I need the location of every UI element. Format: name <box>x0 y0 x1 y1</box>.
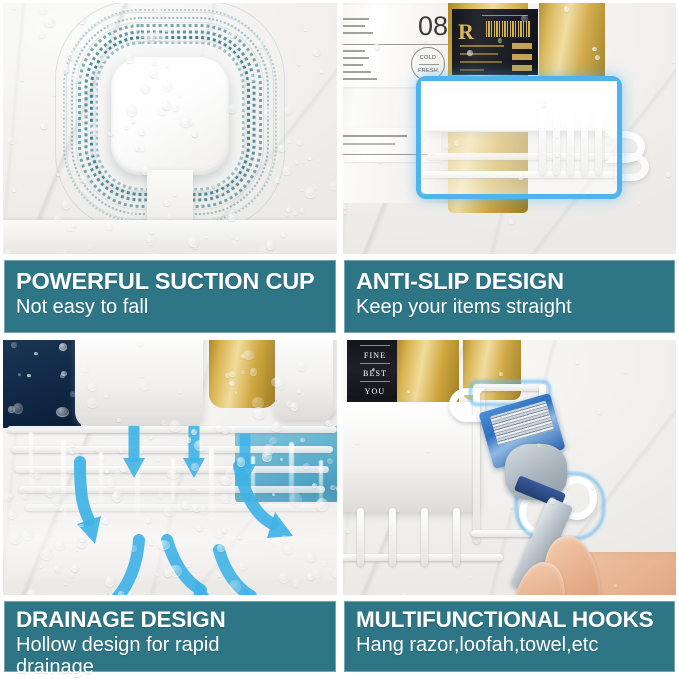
wet-sheen <box>3 490 337 580</box>
rack-body <box>75 340 203 428</box>
caption-subtitle: Keep your items straight <box>356 297 675 319</box>
label-microline <box>343 18 369 20</box>
serif-word: FINE <box>347 352 403 360</box>
label-dark: R <box>452 9 538 75</box>
label-microline <box>343 64 363 66</box>
caption-title: POWERFUL SUCTION CUP <box>16 269 336 294</box>
badge-line-1: COLD <box>412 55 444 61</box>
panel-hooks-photo: GOOD FINE BEST YOU <box>343 340 676 595</box>
label-number: 08 <box>418 11 448 42</box>
rack-rail <box>11 446 333 453</box>
serif-word: BEST <box>347 370 403 378</box>
panel-grid: POWERFUL SUCTION CUP Not easy to fall 08 <box>0 0 679 679</box>
dark-label-chip <box>512 54 532 60</box>
panel-hooks: GOOD FINE BEST YOU <box>340 340 679 679</box>
dark-label-line <box>460 69 484 71</box>
rack-rail <box>7 426 337 433</box>
panel-suction-cup-photo <box>3 3 337 254</box>
bottle-amber <box>209 340 277 408</box>
panel-anti-slip-photo: 08 COLD FRESH <box>343 3 676 254</box>
label-white-upper: 08 COLD FRESH <box>343 5 455 87</box>
label-footer-line-2 <box>343 143 395 145</box>
caption-subtitle: Hang razor,loofah,towel,etc <box>356 635 675 657</box>
suction-cup-assembly <box>54 3 286 232</box>
dark-backdrop <box>3 340 81 428</box>
shelf-rib <box>421 508 428 566</box>
caption-subtitle: Not easy to fall <box>16 297 336 319</box>
label-microline <box>343 25 365 27</box>
water-streak <box>29 432 33 494</box>
infographic-sheet: POWERFUL SUCTION CUP Not easy to fall 08 <box>0 0 679 679</box>
dark-label-chip <box>512 43 532 49</box>
panel-drainage-photo <box>3 340 337 595</box>
label-microline <box>343 32 373 34</box>
caption-title: MULTIFUNCTIONAL HOOKS <box>356 608 675 632</box>
serif-divider <box>360 381 390 382</box>
brand-initial: R <box>458 19 474 45</box>
panel-drainage: DRAINAGE DESIGN Hollow design for rapid … <box>0 340 340 679</box>
shelf-rib <box>389 508 396 566</box>
bottle-amber-right <box>539 3 605 85</box>
caption-title: DRAINAGE DESIGN <box>16 608 336 632</box>
serif-word: GOOD <box>347 340 403 342</box>
caption-subtitle: Hollow design for rapid drainage <box>16 635 336 678</box>
dark-label-line <box>460 45 504 47</box>
caption-hooks: MULTIFUNCTIONAL HOOKS Hang razor,loofah,… <box>344 601 675 672</box>
label-microline <box>343 57 369 59</box>
rack-side-wall <box>275 340 333 420</box>
caption-subtitle-line-1: Hollow design for rapid <box>16 634 219 656</box>
panel-anti-slip: 08 COLD FRESH <box>340 0 679 340</box>
caption-title: ANTI-SLIP DESIGN <box>356 269 675 294</box>
dark-label-line <box>460 61 502 63</box>
label-microline <box>343 78 377 80</box>
caption-anti-slip: ANTI-SLIP DESIGN Keep your items straigh… <box>344 260 675 333</box>
suction-cup-body <box>111 57 229 175</box>
label-footer-line-1 <box>343 135 407 137</box>
shelf-rib <box>357 508 364 566</box>
caption-drainage: DRAINAGE DESIGN Hollow design for rapid … <box>4 601 336 672</box>
anti-slip-highlight-box <box>416 76 622 199</box>
serif-divider <box>360 363 390 364</box>
dark-label-header <box>482 15 528 16</box>
shelf-rib <box>453 508 460 566</box>
dark-label-chip <box>512 65 532 71</box>
marble-ledge <box>3 220 337 254</box>
label-microline <box>343 50 365 52</box>
badge-line-2: FRESH <box>412 68 444 74</box>
dark-label-line <box>460 53 498 55</box>
highlight-box-face <box>421 81 617 194</box>
label-microline <box>343 71 371 73</box>
caption-suction-cup: POWERFUL SUCTION CUP Not easy to fall <box>4 260 336 333</box>
badge-divider <box>419 64 439 65</box>
label-divider <box>343 44 449 45</box>
serif-divider <box>360 345 390 346</box>
panel-suction-cup: POWERFUL SUCTION CUP Not easy to fall <box>0 0 340 340</box>
caption-subtitle-line-2: drainage <box>16 657 336 679</box>
serif-word: YOU <box>347 388 403 396</box>
barcode <box>486 21 530 37</box>
